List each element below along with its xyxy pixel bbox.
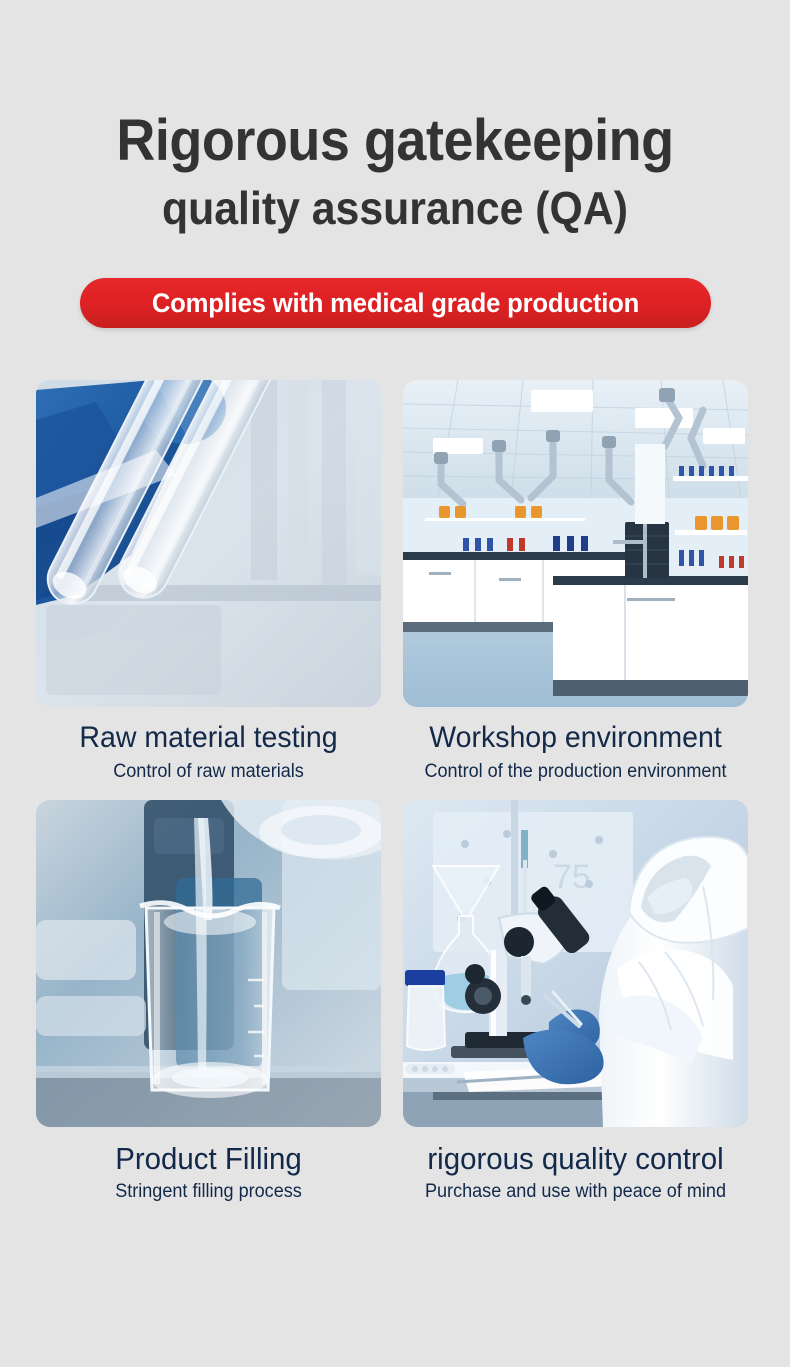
page-title-primary: Rigorous gatekeeping [28,112,763,170]
clean-laboratory-workshop-photo [403,380,748,707]
feature-card: 75 [403,800,748,1204]
test-tubes-gloved-hand-photo [36,380,381,707]
medical-grade-banner: Complies with medical grade production [80,278,711,328]
svg-text:75: 75 [553,858,591,896]
card-subtitle: Stringent filling process [45,1181,373,1204]
card-title: Raw material testing [45,721,373,756]
beaker-liquid-filling-photo [36,800,381,1127]
scientist-microscope-cleanroom-photo: 75 [403,800,748,1127]
feature-card: Product Filling Stringent filling proces… [36,800,381,1204]
feature-card: Workshop environment Control of the prod… [403,380,748,783]
card-title: Workshop environment [412,721,740,756]
card-subtitle: Control of raw materials [45,761,373,784]
card-subtitle: Purchase and use with peace of mind [412,1181,740,1204]
card-subtitle: Control of the production environment [412,761,740,784]
feature-card-grid: Raw material testing Control of raw mate… [0,380,790,1204]
page-title-secondary: quality assurance (QA) [28,184,763,232]
banner-label: Complies with medical grade production [151,288,638,319]
banner-row: Complies with medical grade production [0,278,790,328]
card-title: Product Filling [45,1141,373,1177]
card-title: rigorous quality control [412,1141,740,1177]
feature-card: Raw material testing Control of raw mate… [36,380,381,783]
page-header: Rigorous gatekeeping quality assurance (… [0,0,790,232]
